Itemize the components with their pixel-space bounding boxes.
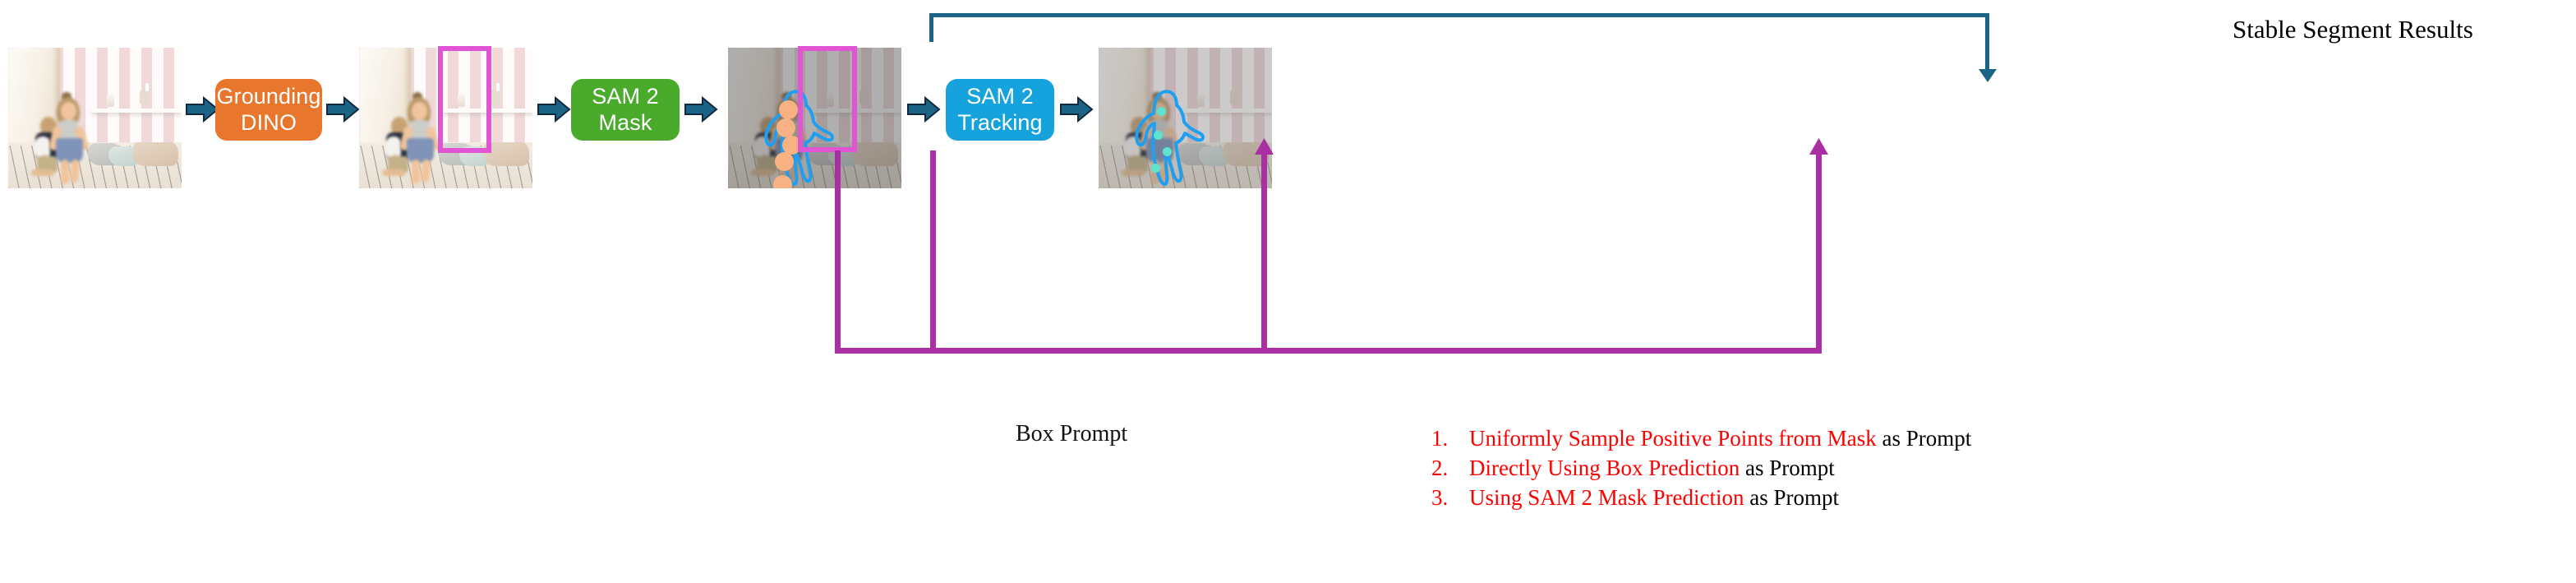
- sample-point: [776, 118, 795, 137]
- box-prompt-connector-up: [1261, 153, 1267, 354]
- grounding-dino-label-line2: DINO: [241, 110, 297, 135]
- result-point: [1163, 147, 1172, 156]
- flow-arrow-2: [326, 97, 359, 122]
- box-prompt-arrowhead: [1254, 138, 1274, 155]
- prompt-option-highlight: Uniformly Sample Positive Points from Ma…: [1469, 426, 1877, 451]
- sample-point: [775, 152, 794, 171]
- sam2-tracking-label-line2: Tracking: [957, 110, 1042, 135]
- input-frame: [8, 48, 182, 188]
- mask-prompt-connector-right: [835, 348, 1822, 354]
- sam2-mask-label-line2: Mask: [599, 110, 652, 135]
- prompt-option-highlight: Using SAM 2 Mask Prediction: [1469, 485, 1744, 510]
- result-point: [1157, 107, 1166, 116]
- prompt-option-highlight: Directly Using Box Prediction: [1469, 456, 1740, 480]
- prompt-option-tail: as Prompt: [1740, 456, 1835, 480]
- box-prompt-connector-down: [930, 150, 936, 354]
- bypass-connector-vertical-left: [929, 13, 933, 42]
- flow-arrow-4: [684, 97, 717, 122]
- prompt-option-number: 2.: [1431, 456, 1448, 481]
- prompt-option-text: Uniformly Sample Positive Points from Ma…: [1469, 426, 1971, 451]
- bypass-connector-vertical-right: [1985, 13, 1989, 74]
- sam2-tracking-label-line1: SAM 2: [966, 84, 1034, 109]
- prompt-option-number: 3.: [1431, 485, 1448, 511]
- stage-grounding-dino[interactable]: Grounding DINO: [215, 79, 322, 141]
- stage-sam2-mask[interactable]: SAM 2 Mask: [571, 79, 680, 141]
- prompt-option-number: 1.: [1431, 426, 1448, 451]
- sample-point: [773, 175, 792, 188]
- result-point: [1154, 131, 1163, 140]
- prompt-option-tail: as Prompt: [1744, 485, 1840, 510]
- mask-prompt-connector-up: [1816, 153, 1822, 354]
- flow-arrow-3: [537, 97, 570, 122]
- mask-prompt-connector-down: [835, 150, 841, 354]
- sample-point: [779, 100, 798, 119]
- prompt-option-text: Using SAM 2 Mask Prediction as Prompt: [1469, 485, 1839, 511]
- bypass-connector-arrowhead: [1978, 69, 1998, 82]
- prompt-option-text: Directly Using Box Prediction as Prompt: [1469, 456, 1835, 481]
- box-prompt-caption: Box Prompt: [1016, 421, 1127, 447]
- flow-arrow-6: [1060, 97, 1093, 122]
- mask-frame-bounding-box: [798, 46, 857, 152]
- result-point: [1151, 164, 1160, 173]
- flow-arrow-1: [186, 97, 219, 122]
- mask-prompt-arrowhead: [1809, 138, 1829, 155]
- result-frame: [1099, 48, 1272, 188]
- page-title: Stable Segment Results: [2233, 15, 2473, 44]
- grounding-dino-label-line1: Grounding: [217, 84, 321, 109]
- detection-bounding-box: [438, 46, 491, 153]
- stage-sam2-tracking[interactable]: SAM 2 Tracking: [946, 79, 1054, 141]
- flow-arrow-5: [907, 97, 940, 122]
- sam2-mask-label-line1: SAM 2: [592, 84, 659, 109]
- segmentation-mask-outline: [1099, 48, 1272, 188]
- bypass-connector-horizontal: [929, 13, 1989, 17]
- pipeline-diagram: Grounding DINO: [0, 0, 2576, 583]
- prompt-option-tail: as Prompt: [1877, 426, 1972, 451]
